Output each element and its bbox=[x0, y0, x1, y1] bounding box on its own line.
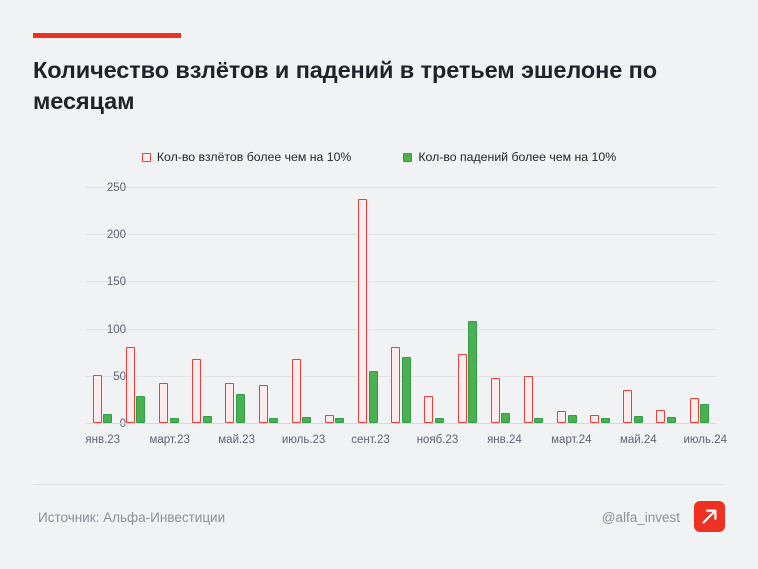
legend-item[interactable]: Кол-во падений более чем на 10% bbox=[403, 150, 616, 164]
x-axis-tick-label: март.24 bbox=[551, 434, 591, 446]
bar-falls[interactable] bbox=[634, 416, 643, 423]
legend-item[interactable]: Кол-во взлётов более чем на 10% bbox=[142, 150, 352, 164]
bar-falls[interactable] bbox=[402, 357, 411, 423]
x-axis-tick-label: июль.23 bbox=[282, 434, 325, 446]
bar-rises[interactable] bbox=[391, 347, 400, 423]
x-axis-tick-label: май.24 bbox=[620, 434, 657, 446]
bar-group[interactable] bbox=[683, 188, 716, 423]
legend-swatch-icon bbox=[142, 153, 151, 162]
bar-group[interactable] bbox=[252, 188, 285, 423]
bar-rises[interactable] bbox=[491, 378, 500, 423]
bar-falls[interactable] bbox=[369, 371, 378, 423]
bar-rises[interactable] bbox=[458, 354, 467, 423]
bar-rises[interactable] bbox=[590, 415, 599, 423]
bar-group[interactable] bbox=[650, 188, 683, 423]
bar-rises[interactable] bbox=[292, 359, 301, 423]
bar-rises[interactable] bbox=[524, 376, 533, 423]
bar-group[interactable] bbox=[451, 188, 484, 423]
bar-group[interactable] bbox=[152, 188, 185, 423]
plot-area: 050100150200250 bbox=[86, 188, 716, 424]
bar-group[interactable] bbox=[119, 188, 152, 423]
alfa-arrow-logo-icon bbox=[694, 501, 725, 532]
bar-falls[interactable] bbox=[501, 413, 510, 423]
x-axis-labels: янв.23март.23май.23июль.23сент.23нояб.23… bbox=[86, 434, 722, 452]
bar-group[interactable] bbox=[418, 188, 451, 423]
bar-rises[interactable] bbox=[424, 396, 433, 423]
bar-falls[interactable] bbox=[136, 396, 145, 423]
chart-legend: Кол-во взлётов более чем на 10%Кол-во па… bbox=[0, 150, 758, 164]
bar-rises[interactable] bbox=[93, 375, 102, 423]
bar-group[interactable] bbox=[617, 188, 650, 423]
bar-falls[interactable] bbox=[468, 321, 477, 423]
bar-group[interactable] bbox=[517, 188, 550, 423]
x-axis-tick-label: янв.23 bbox=[85, 434, 120, 446]
bar-group[interactable] bbox=[384, 188, 417, 423]
x-axis-tick-label: сент.23 bbox=[351, 434, 389, 446]
bar-group[interactable] bbox=[550, 188, 583, 423]
bar-rises[interactable] bbox=[225, 383, 234, 423]
source-label: Источник: Альфа-Инвестиции bbox=[38, 510, 225, 525]
accent-bar bbox=[33, 33, 181, 38]
bar-group[interactable] bbox=[318, 188, 351, 423]
bar-group[interactable] bbox=[583, 188, 616, 423]
bar-rises[interactable] bbox=[126, 347, 135, 423]
social-handle: @alfa_invest bbox=[602, 510, 680, 525]
bar-rises[interactable] bbox=[557, 411, 566, 423]
bar-rises[interactable] bbox=[690, 398, 699, 423]
x-axis-tick-label: нояб.23 bbox=[417, 434, 459, 446]
chart-page: Количество взлётов и падений в третьем э… bbox=[0, 0, 758, 569]
x-axis-line bbox=[86, 423, 716, 424]
legend-swatch-icon bbox=[403, 153, 412, 162]
bar-rises[interactable] bbox=[656, 410, 665, 423]
footer-divider bbox=[33, 484, 725, 485]
bar-falls[interactable] bbox=[236, 394, 245, 423]
bar-rises[interactable] bbox=[325, 415, 334, 423]
bar-rises[interactable] bbox=[358, 199, 367, 423]
bar-group[interactable] bbox=[185, 188, 218, 423]
x-axis-tick-label: март.23 bbox=[149, 434, 189, 446]
bar-rises[interactable] bbox=[623, 390, 632, 423]
x-axis-tick-label: июль.24 bbox=[684, 434, 727, 446]
bar-falls[interactable] bbox=[103, 414, 112, 423]
bar-group[interactable] bbox=[351, 188, 384, 423]
x-axis-tick-label: май.23 bbox=[218, 434, 255, 446]
bar-group[interactable] bbox=[219, 188, 252, 423]
bar-group[interactable] bbox=[86, 188, 119, 423]
chart-area: 050100150200250 bbox=[38, 180, 722, 430]
bar-group[interactable] bbox=[484, 188, 517, 423]
bar-falls[interactable] bbox=[203, 416, 212, 423]
page-title: Количество взлётов и падений в третьем э… bbox=[33, 55, 723, 118]
bar-group[interactable] bbox=[285, 188, 318, 423]
bar-rises[interactable] bbox=[192, 359, 201, 423]
bar-groups bbox=[86, 188, 716, 423]
bar-rises[interactable] bbox=[259, 385, 268, 423]
legend-item-label: Кол-во падений более чем на 10% bbox=[418, 150, 616, 164]
bar-falls[interactable] bbox=[568, 415, 577, 423]
x-axis-tick-label: янв.24 bbox=[487, 434, 522, 446]
legend-item-label: Кол-во взлётов более чем на 10% bbox=[157, 150, 352, 164]
bar-falls[interactable] bbox=[700, 404, 709, 423]
bar-rises[interactable] bbox=[159, 383, 168, 423]
